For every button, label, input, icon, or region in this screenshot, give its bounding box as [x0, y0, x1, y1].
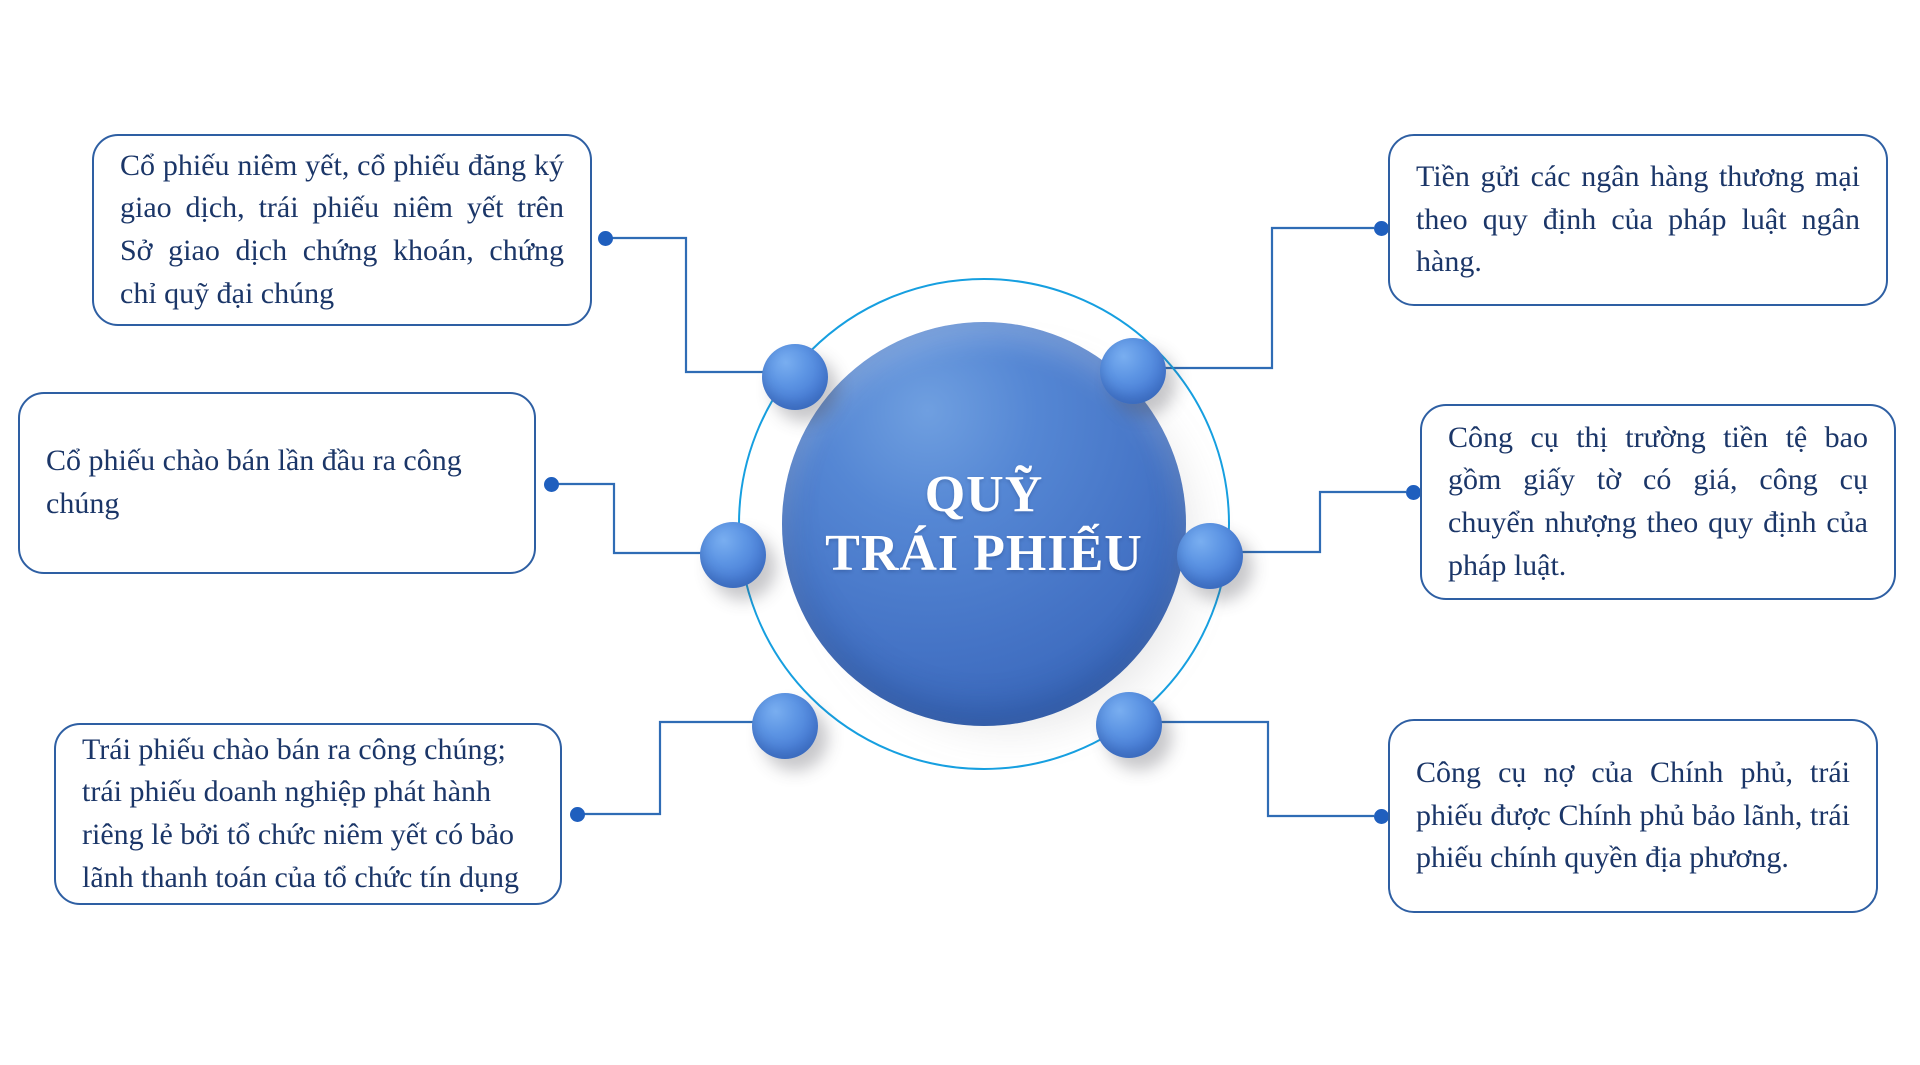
connector-dot-bottom-right	[1374, 809, 1389, 824]
info-box-middle-right[interactable]: Công cụ thị trường tiền tệ bao gồm giấy …	[1420, 404, 1896, 600]
connector-dot-middle-left	[544, 477, 559, 492]
orbit-node-top-right[interactable]	[1100, 338, 1166, 404]
connector-dot-middle-right	[1406, 485, 1421, 500]
orbit-node-left[interactable]	[700, 522, 766, 588]
info-box-middle-left-text: Cổ phiếu chào bán lần đầu ra công chúng	[46, 440, 508, 525]
info-box-top-right[interactable]: Tiền gửi các ngân hàng thương mại theo q…	[1388, 134, 1888, 306]
orbit-node-bottom-right[interactable]	[1096, 692, 1162, 758]
connector-top-left	[606, 238, 790, 372]
center-label-line1: QUỸ	[925, 466, 1044, 523]
connector-dot-bottom-left	[570, 807, 585, 822]
connector-top-right	[1164, 228, 1374, 368]
diagram-canvas: QUỸ TRÁI PHIẾU Cổ phiếu niêm yết, cổ phi…	[0, 0, 1920, 1065]
orbit-node-top-left[interactable]	[762, 344, 828, 410]
info-box-middle-left[interactable]: Cổ phiếu chào bán lần đầu ra công chúng	[18, 392, 536, 574]
center-label-line2: TRÁI PHIẾU	[825, 525, 1143, 582]
center-label: QUỸ TRÁI PHIẾU	[825, 465, 1143, 584]
connector-dot-top-left	[598, 231, 613, 246]
connector-bottom-left	[578, 722, 778, 814]
connector-middle-right	[1228, 492, 1406, 552]
orbit-node-bottom-left[interactable]	[752, 693, 818, 759]
orbit-node-right[interactable]	[1177, 523, 1243, 589]
info-box-bottom-left[interactable]: Trái phiếu chào bán ra công chúng; trái …	[54, 723, 562, 905]
connector-middle-left	[552, 484, 714, 553]
info-box-bottom-right-text: Công cụ nợ của Chính phủ, trái phiếu đượ…	[1416, 752, 1850, 880]
info-box-middle-right-text: Công cụ thị trường tiền tệ bao gồm giấy …	[1448, 417, 1868, 587]
info-box-bottom-left-text: Trái phiếu chào bán ra công chúng; trái …	[82, 729, 534, 899]
info-box-bottom-right[interactable]: Công cụ nợ của Chính phủ, trái phiếu đượ…	[1388, 719, 1878, 913]
connector-bottom-right	[1156, 722, 1374, 816]
connector-dot-top-right	[1374, 221, 1389, 236]
info-box-top-left[interactable]: Cổ phiếu niêm yết, cổ phiếu đăng ký giao…	[92, 134, 592, 326]
info-box-top-left-text: Cổ phiếu niêm yết, cổ phiếu đăng ký giao…	[120, 145, 564, 315]
info-box-top-right-text: Tiền gửi các ngân hàng thương mại theo q…	[1416, 156, 1860, 284]
